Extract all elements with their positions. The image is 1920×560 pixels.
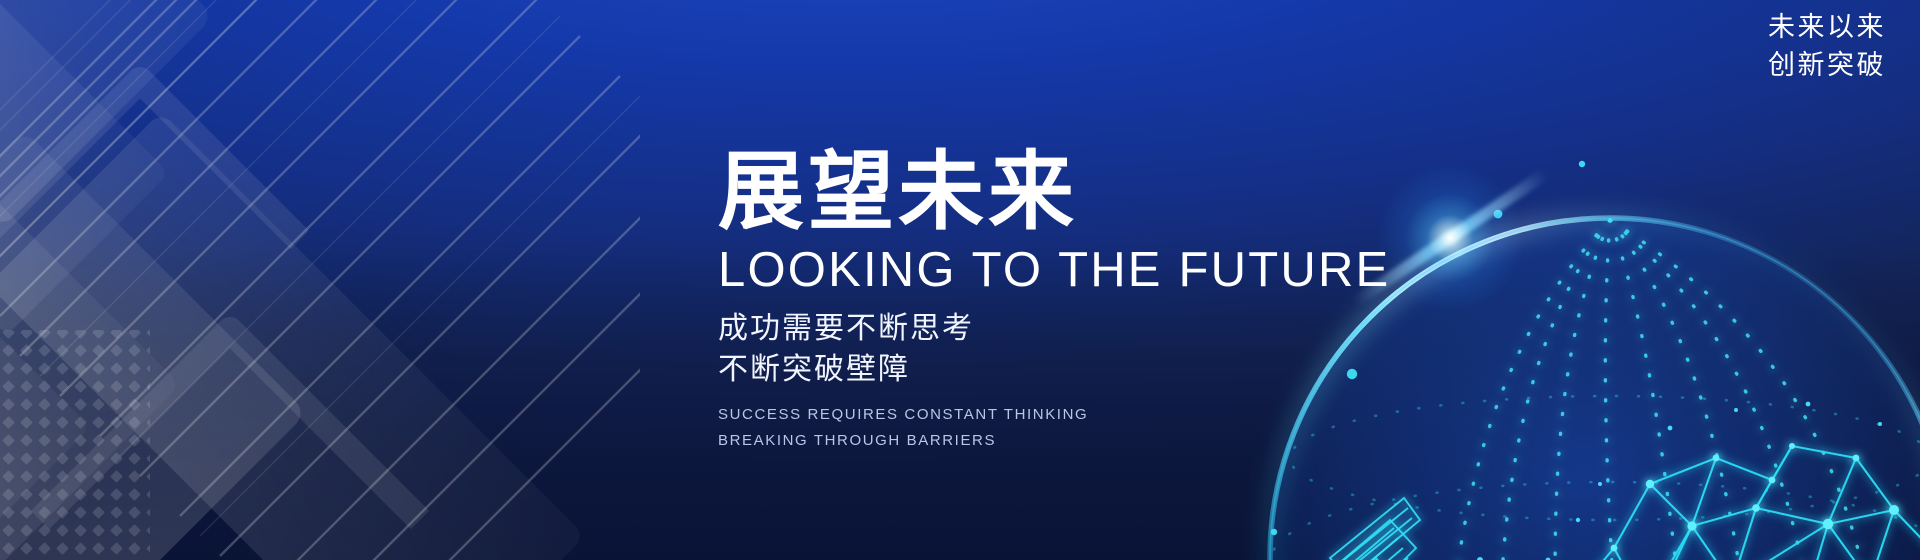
banner-root: 展望未来 LOOKING TO THE FUTURE 成功需要不断思考 不断突破…	[0, 0, 1920, 560]
headline-block: 展望未来 LOOKING TO THE FUTURE 成功需要不断思考 不断突破…	[718, 148, 1390, 453]
subtitle-chinese-line-2: 不断突破壁障	[718, 350, 1390, 391]
title-english: LOOKING TO THE FUTURE	[718, 245, 1390, 296]
left-geometric-pattern	[0, 0, 640, 560]
corner-tagline: 未来以来 创新突破	[1768, 8, 1886, 85]
corner-tagline-line-1: 未来以来	[1768, 8, 1886, 46]
subtitle-chinese-line-1: 成功需要不断思考	[718, 309, 1390, 350]
subtitle-english: SUCCESS REQUIRES CONSTANT THINKING BREAK…	[718, 402, 1390, 452]
globe-limb-glow	[1375, 163, 1525, 313]
title-chinese: 展望未来	[718, 148, 1390, 237]
subtitle-english-line-2: BREAKING THROUGH BARRIERS	[718, 428, 1390, 453]
corner-tagline-line-2: 创新突破	[1768, 46, 1886, 84]
subtitle-english-line-1: SUCCESS REQUIRES CONSTANT THINKING	[718, 402, 1390, 427]
subtitle-chinese: 成功需要不断思考 不断突破壁障	[718, 309, 1390, 391]
